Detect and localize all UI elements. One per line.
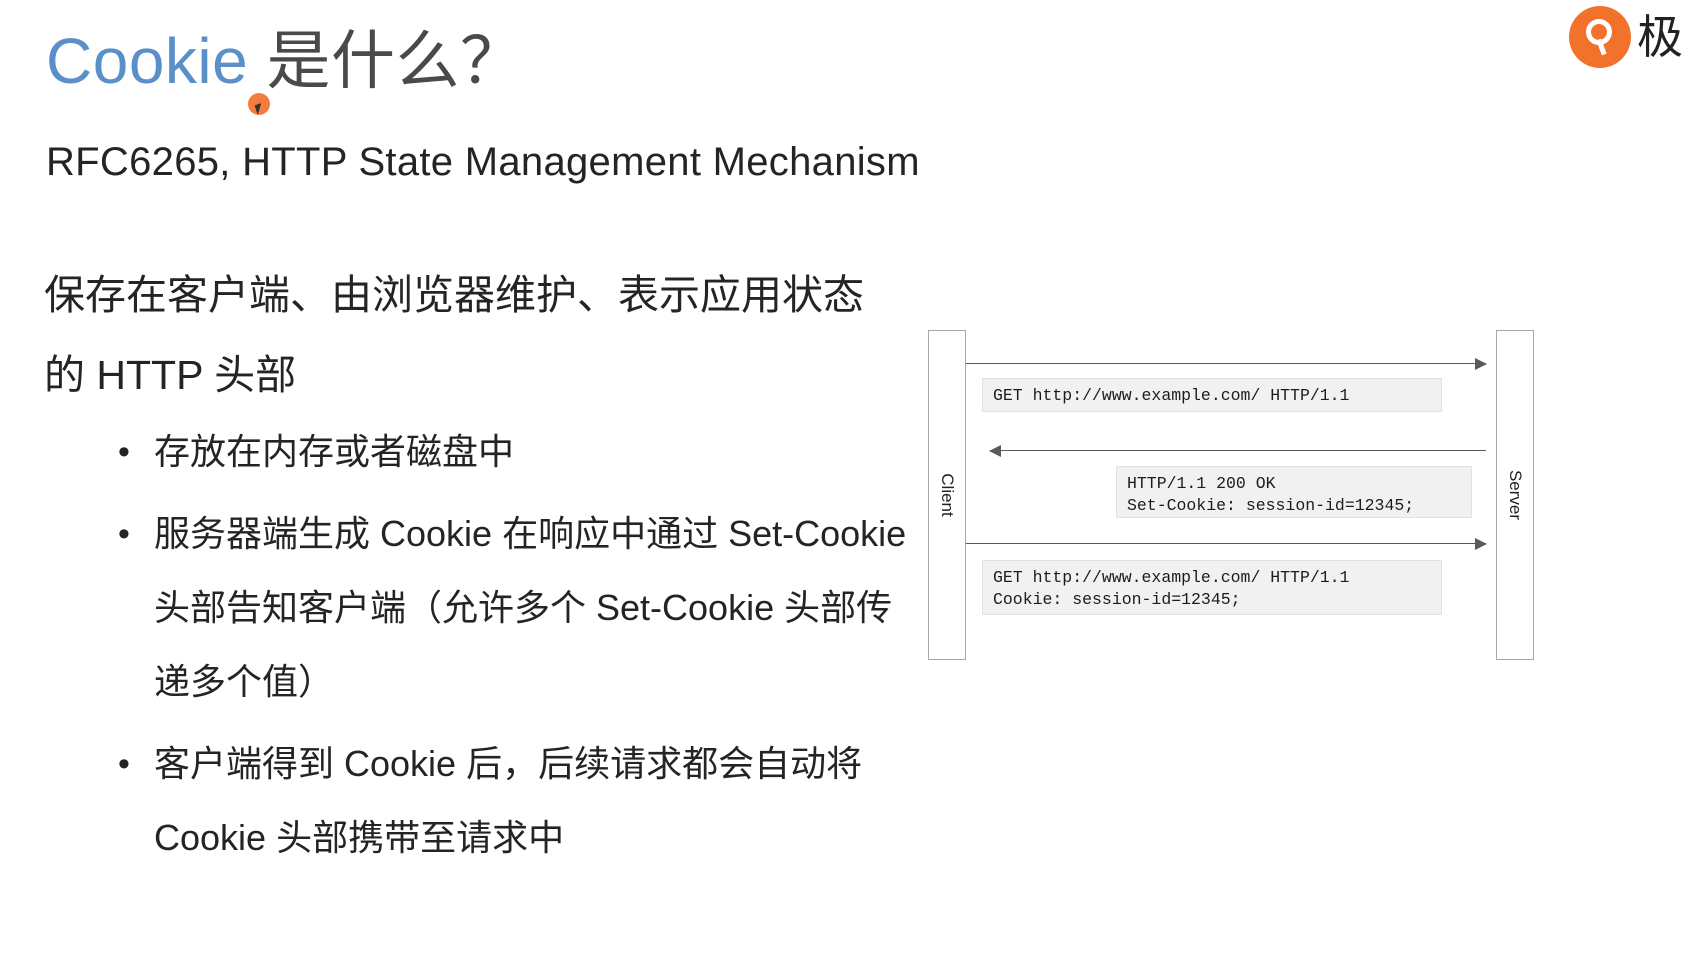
body-paragraph: 保存在客户端、由浏览器维护、表示应用状态的 HTTP 头部 [44, 255, 874, 415]
message-request-1: GET http://www.example.com/ HTTP/1.1 [982, 378, 1442, 412]
lifeline-client-label: Client [937, 473, 957, 516]
arrow-request-1 [966, 363, 1486, 364]
message-request-2: GET http://www.example.com/ HTTP/1.1 Coo… [982, 560, 1442, 615]
page-title-en: Cookie [46, 25, 248, 97]
list-item: 服务器端生成 Cookie 在响应中通过 Set-Cookie 头部告知客户端（… [112, 497, 912, 719]
list-item: 客户端得到 Cookie 后，后续请求都会自动将 Cookie 头部携带至请求中 [112, 727, 912, 875]
brand-logo: 极 [1569, 6, 1683, 68]
page-title-cn: 是什么？ [248, 25, 524, 97]
lifeline-server: Server [1496, 330, 1534, 660]
lifeline-server-label: Server [1505, 470, 1525, 520]
bullet-list: 存放在内存或者磁盘中 服务器端生成 Cookie 在响应中通过 Set-Cook… [112, 415, 912, 883]
arrow-response-1 [990, 450, 1486, 451]
message-response-1: HTTP/1.1 200 OK Set-Cookie: session-id=1… [1116, 466, 1472, 518]
sequence-diagram: Client Server GET http://www.example.com… [920, 330, 1560, 670]
subtitle: RFC6265, HTTP State Management Mechanism [46, 140, 920, 185]
page-title: Cookie 是什么？ [46, 10, 525, 102]
lifeline-client: Client [928, 330, 966, 660]
arrow-request-2 [966, 543, 1486, 544]
list-item: 存放在内存或者磁盘中 [112, 415, 912, 489]
geekbang-logo-icon [1569, 6, 1631, 68]
brand-logo-text: 极 [1637, 14, 1683, 60]
